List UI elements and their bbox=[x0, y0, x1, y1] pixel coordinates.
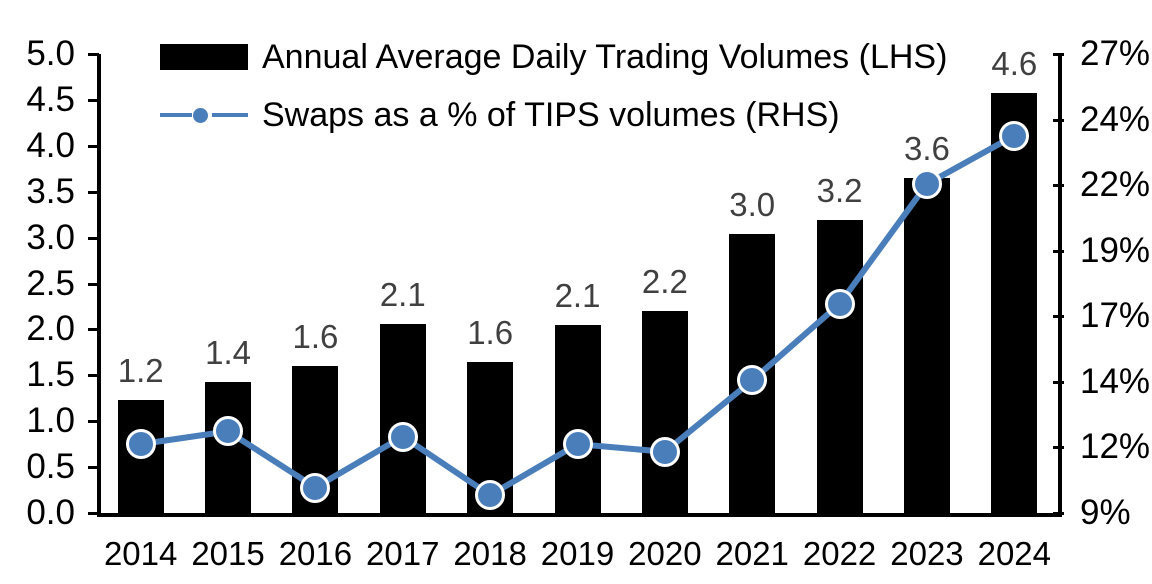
right-axis-tick-label: 22% bbox=[1080, 167, 1150, 202]
bar-data-label: 2.2 bbox=[605, 265, 725, 298]
legend-label-bars: Annual Average Daily Trading Volumes (LH… bbox=[262, 40, 947, 74]
left-axis-tick-label: 4.5 bbox=[0, 82, 75, 117]
left-axis-tick-label: 1.5 bbox=[0, 357, 75, 392]
bar-data-label: 3.6 bbox=[867, 132, 987, 165]
line-marker bbox=[388, 422, 418, 452]
line-marker bbox=[563, 429, 593, 459]
left-axis-tick-label: 1.0 bbox=[0, 403, 75, 438]
left-axis-tick-label: 5.0 bbox=[0, 36, 75, 71]
left-axis-tick-label: 3.0 bbox=[0, 220, 75, 255]
legend-line-marker-swatch-icon bbox=[160, 102, 248, 128]
line-marker bbox=[999, 121, 1029, 151]
left-axis-tick-label: 3.5 bbox=[0, 174, 75, 209]
legend-item-bars[interactable]: Annual Average Daily Trading Volumes (LH… bbox=[160, 40, 947, 74]
left-axis-tick-label: 2.0 bbox=[0, 311, 75, 346]
chart-container: 0.00.51.01.52.02.53.03.54.04.55.0 9%12%1… bbox=[0, 0, 1152, 584]
left-axis-tick-label: 2.5 bbox=[0, 266, 75, 301]
right-axis-tick-label: 17% bbox=[1080, 298, 1150, 333]
bar-data-label: 3.2 bbox=[780, 174, 900, 207]
right-axis-tick-label: 27% bbox=[1080, 36, 1150, 71]
line-marker bbox=[825, 289, 855, 319]
x-axis-baseline bbox=[97, 513, 1062, 517]
left-axis-tick-label: 4.0 bbox=[0, 128, 75, 163]
right-axis-tick-label: 9% bbox=[1080, 495, 1131, 530]
right-axis-tick-label: 12% bbox=[1080, 429, 1150, 464]
left-axis-tick-label: 0.5 bbox=[0, 449, 75, 484]
bar-data-label: 1.6 bbox=[255, 320, 375, 353]
bar-data-label: 4.6 bbox=[954, 47, 1074, 80]
line-marker bbox=[300, 473, 330, 503]
line-marker bbox=[126, 429, 156, 459]
right-axis-tick-label: 24% bbox=[1080, 102, 1150, 137]
right-axis-tick-label: 14% bbox=[1080, 364, 1150, 399]
bar-data-label: 2.1 bbox=[343, 278, 463, 311]
legend-label-line: Swaps as a % of TIPS volumes (RHS) bbox=[262, 98, 840, 132]
x-axis-tick-label: 2024 bbox=[944, 537, 1084, 570]
bar-data-label: 1.6 bbox=[430, 316, 550, 349]
left-axis-tick-label: 0.0 bbox=[0, 495, 75, 530]
right-axis-tick-label: 19% bbox=[1080, 233, 1150, 268]
legend-item-line[interactable]: Swaps as a % of TIPS volumes (RHS) bbox=[160, 98, 840, 132]
line-marker bbox=[912, 169, 942, 199]
line-marker bbox=[650, 437, 680, 467]
legend-bar-swatch-icon bbox=[160, 44, 248, 70]
